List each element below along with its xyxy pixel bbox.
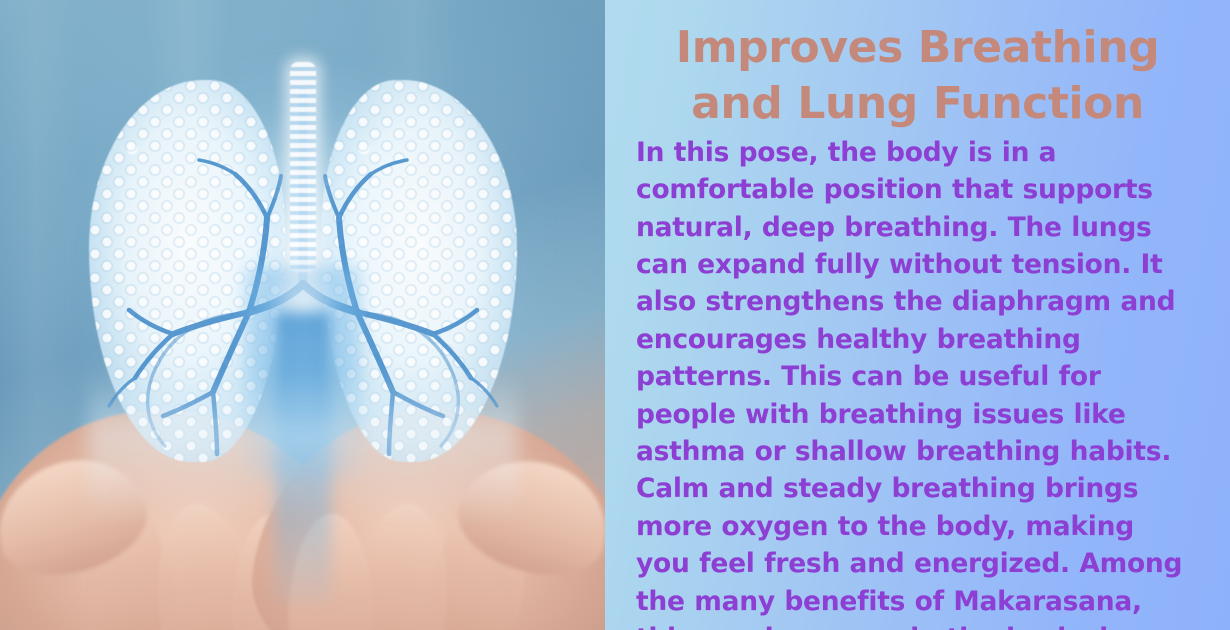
left-finger-2	[150, 500, 255, 630]
right-thumb	[447, 443, 605, 590]
right-finger-2	[351, 500, 456, 630]
lung-glow	[43, 42, 563, 512]
lung-base-glow	[275, 312, 331, 602]
lung-bottom-fade	[88, 372, 518, 522]
hand-shadow	[133, 490, 473, 610]
left-lung-lobe	[89, 80, 285, 462]
right-finger-1	[423, 485, 540, 630]
background-vignette	[0, 0, 605, 630]
title-line-1: Improves Breathing	[629, 20, 1206, 76]
trachea	[290, 62, 316, 272]
right-finger-3	[288, 513, 375, 630]
left-wrist	[0, 528, 142, 630]
right-wrist	[463, 528, 605, 630]
bronchial-tree-icon	[73, 62, 533, 492]
panel-body-text: In this pose, the body is in a comfortab…	[605, 134, 1230, 630]
lung-core-glow	[243, 267, 363, 477]
right-lung-lobe	[321, 80, 517, 462]
holographic-lungs	[73, 62, 533, 492]
right-palm	[240, 391, 605, 630]
cupped-hands-illustration	[0, 320, 605, 630]
lungs-photo-panel	[0, 0, 605, 630]
left-thumb	[0, 443, 158, 590]
panel-title: Improves Breathing and Lung Function	[605, 0, 1230, 132]
text-panel: Improves Breathing and Lung Function In …	[605, 0, 1230, 630]
title-line-2: and Lung Function	[629, 76, 1206, 132]
left-palm	[0, 391, 365, 630]
background-light-streaks	[0, 0, 605, 630]
left-finger-1	[66, 485, 183, 630]
infographic-slide: Improves Breathing and Lung Function In …	[0, 0, 1230, 630]
left-finger-3	[231, 513, 318, 630]
